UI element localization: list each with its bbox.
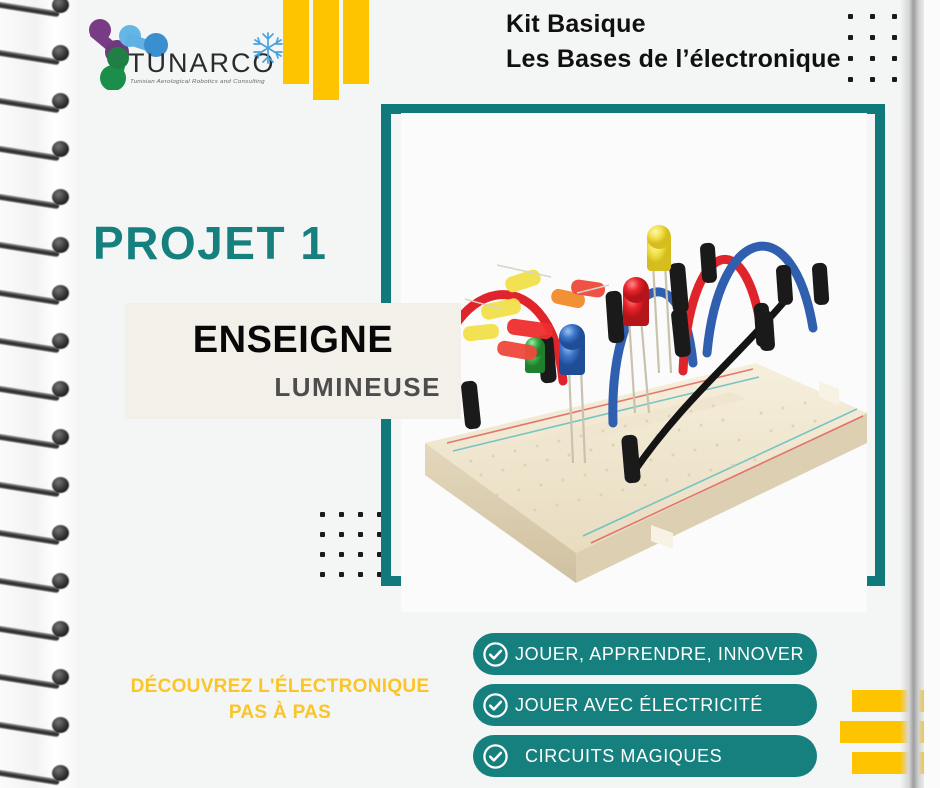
spiral-ring <box>0 426 78 446</box>
spiral-ring <box>0 234 78 254</box>
spiral-ring <box>0 378 78 398</box>
grid-dot <box>358 572 363 577</box>
header-kit-line: Kit Basique <box>506 10 646 39</box>
grid-dot <box>870 77 875 82</box>
logo-tagline: Tunisian Aerological Robotics and Consul… <box>130 78 265 84</box>
grid-dot <box>870 56 875 61</box>
grid-dot <box>358 552 363 557</box>
grid-dot <box>320 532 325 537</box>
grid-dot <box>339 512 344 517</box>
spiral-ring <box>0 666 78 686</box>
spiral-ring <box>0 714 78 734</box>
yellow-bar-3 <box>343 0 369 84</box>
spiral-ring <box>0 474 78 494</box>
spiral-ring <box>0 618 78 638</box>
spiral-ring <box>0 282 78 302</box>
grid-dot <box>848 77 853 82</box>
spiral-ring <box>0 186 78 206</box>
spiral-ring <box>0 522 78 542</box>
page-title: PROJET 1 <box>93 216 327 270</box>
spiral-ring <box>0 42 78 62</box>
grid-dot <box>892 35 897 40</box>
grid-dot <box>870 35 875 40</box>
snowflake-icon <box>250 30 286 66</box>
grid-dot <box>358 532 363 537</box>
grid-dot <box>339 572 344 577</box>
feature-badge-label: CIRCUITS MAGIQUES <box>525 746 722 767</box>
feature-badge-label: JOUER, APPRENDRE, INNOVER <box>515 644 804 665</box>
grid-dot <box>892 77 897 82</box>
grid-dot <box>870 14 875 19</box>
page-edge-shadow <box>900 0 926 788</box>
slogan-line-2: PAS À PAS <box>229 702 331 723</box>
check-circle-icon <box>482 692 509 719</box>
spiral-ring <box>0 90 78 110</box>
yellow-bar-2 <box>313 0 339 100</box>
project-name-card: ENSEIGNE LUMINEUSE <box>125 303 461 419</box>
grid-dot <box>892 14 897 19</box>
project-name: ENSEIGNE <box>145 319 441 362</box>
grid-dot <box>339 552 344 557</box>
grid-dot <box>339 532 344 537</box>
feature-badge-3[interactable]: CIRCUITS MAGIQUES <box>473 735 817 777</box>
grid-dot <box>320 572 325 577</box>
notebook-binding <box>0 0 78 788</box>
grid-dot <box>848 56 853 61</box>
grid-dot <box>320 552 325 557</box>
check-circle-icon <box>482 641 509 668</box>
feature-badge-label: JOUER AVEC ÉLECTRICITÉ <box>515 695 763 716</box>
slogan-line-1: DÉCOUVREZ L'ÉLECTRONIQUE <box>131 676 430 697</box>
grid-dot <box>848 35 853 40</box>
feature-badge-2[interactable]: JOUER AVEC ÉLECTRICITÉ <box>473 684 817 726</box>
spiral-ring <box>0 0 78 14</box>
tunarco-logo: TUNARCO Tunisian Aerological Robotics an… <box>82 8 282 90</box>
led-blue <box>559 324 585 375</box>
header-subject-line: Les Bases de l’électronique <box>506 45 841 74</box>
breadboard-photo <box>401 113 867 612</box>
grid-dot <box>848 14 853 19</box>
led-red <box>623 277 649 326</box>
led-yellow <box>647 225 671 271</box>
spiral-ring <box>0 330 78 350</box>
grid-dot <box>320 512 325 517</box>
yellow-bar-1 <box>283 0 309 84</box>
slogan-text: DÉCOUVREZ L'ÉLECTRONIQUE PAS À PAS <box>100 674 460 726</box>
page-right-edge <box>924 0 940 788</box>
poster-canvas: TUNARCO Tunisian Aerological Robotics an… <box>0 0 940 788</box>
grid-dot <box>358 512 363 517</box>
check-circle-icon <box>482 743 509 770</box>
spiral-ring <box>0 138 78 158</box>
spiral-ring <box>0 570 78 590</box>
project-subname: LUMINEUSE <box>145 372 441 403</box>
grid-dot <box>892 56 897 61</box>
spiral-ring <box>0 762 78 782</box>
feature-badge-1[interactable]: JOUER, APPRENDRE, INNOVER <box>473 633 817 675</box>
